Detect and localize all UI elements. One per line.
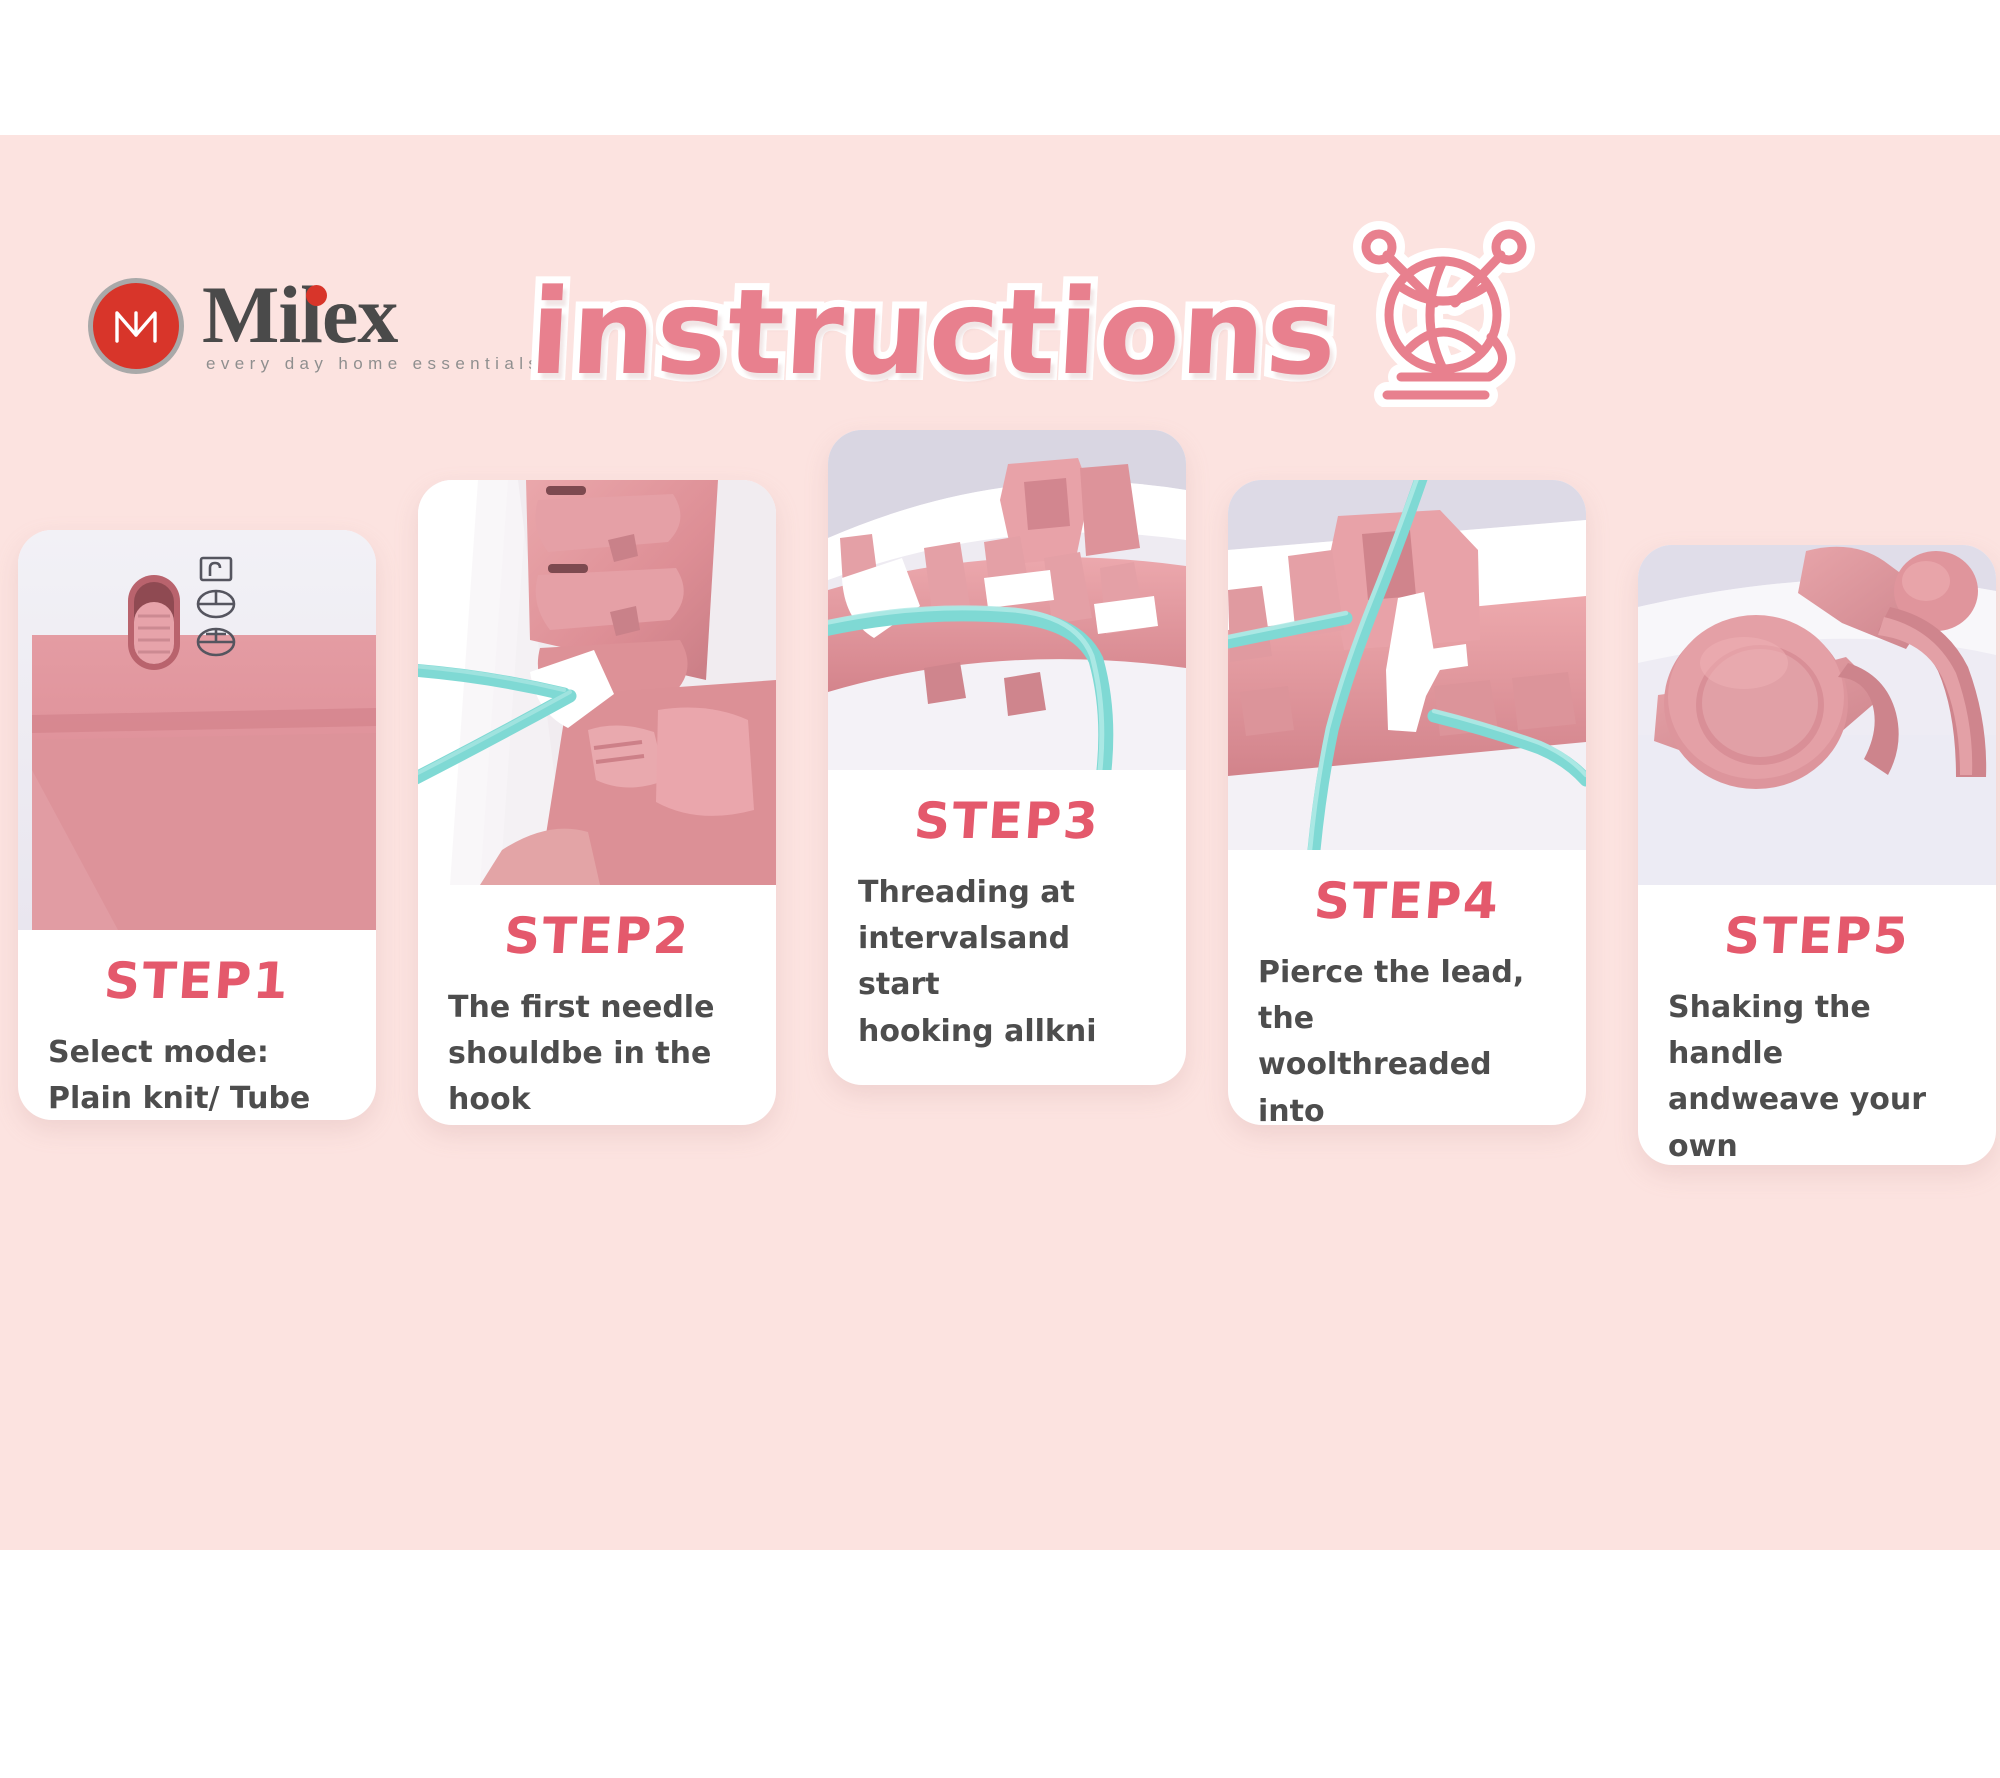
step-card-1[interactable]: STEP1 Select mode: Plain knit/ Tube knit — [18, 530, 376, 1120]
step-desc-line: Select mode: — [48, 1030, 346, 1076]
yarn-ball-with-knitting-needles-icon — [1339, 217, 1549, 412]
brand-wordmark: Milex every day home essentials — [202, 277, 542, 374]
step-desc-line: Threading at — [858, 870, 1156, 916]
step-card-3[interactable]: STEP3 Threading at intervalsand start ho… — [828, 430, 1186, 1085]
step-description: Select mode: Plain knit/ Tube knit — [48, 1030, 346, 1120]
step-desc-line: Pierce the lead, the — [1258, 950, 1556, 1042]
step-card-5[interactable]: STEP5 Shaking the handle andweave your o… — [1638, 545, 1996, 1165]
step-card-3-body: STEP3 Threading at intervalsand start ho… — [828, 792, 1186, 1081]
step-description: Threading at intervalsand start hooking … — [858, 870, 1156, 1055]
step-desc-line: shouldbe in the hook — [448, 1031, 746, 1123]
step-desc-line: hooking allkni — [858, 1009, 1156, 1055]
step-label: STEP1 — [46, 952, 348, 1010]
instruction-poster: Milex every day home essentials instruct… — [0, 0, 2000, 1778]
title-lockup: instructions — [530, 251, 1549, 412]
step-desc-line: andweave your own — [1668, 1077, 1966, 1165]
step-desc-line: woolthreaded into — [1258, 1042, 1556, 1125]
crank-handle-knob-photo — [1638, 545, 1996, 885]
brand-name: Milex — [202, 277, 542, 352]
step-desc-line: intervalsand start — [858, 916, 1156, 1008]
step-card-5-body: STEP5 Shaking the handle andweave your o… — [1638, 907, 1996, 1165]
step-label: STEP4 — [1256, 872, 1558, 930]
mode-selector-slider-photo — [18, 530, 376, 930]
needle-hook-threading-photo — [418, 480, 776, 885]
brand-lockup: Milex every day home essentials — [88, 277, 542, 374]
step-desc-line: Shaking the handle — [1668, 985, 1966, 1077]
step-desc-line: The first needle — [448, 985, 746, 1031]
step-description: The first needle shouldbe in the hook an… — [448, 985, 746, 1125]
step-label: STEP5 — [1666, 907, 1968, 965]
poster-header: Milex every day home essentials instruct… — [0, 255, 2000, 435]
step-description: Pierce the lead, the woolthreaded into t… — [1258, 950, 1556, 1125]
page-title: instructions — [527, 273, 1341, 391]
brand-i-dot-icon — [306, 285, 327, 306]
step-label: STEP2 — [446, 907, 748, 965]
step-description: Shaking the handle andweave your own sca… — [1668, 985, 1966, 1165]
step-card-1-body: STEP1 Select mode: Plain knit/ Tube knit — [18, 952, 376, 1120]
step-card-4-body: STEP4 Pierce the lead, the woolthreaded … — [1228, 872, 1586, 1125]
milex-m-monogram-icon — [88, 278, 184, 374]
step-desc-line: Plain knit/ Tube knit — [48, 1076, 346, 1120]
yarn-threaded-through-hooks-photo — [828, 430, 1186, 770]
wool-pierced-into-threadmouth-photo — [1228, 480, 1586, 850]
step-card-2-body: STEP2 The first needle shouldbe in the h… — [418, 907, 776, 1125]
step-card-2[interactable]: STEP2 The first needle shouldbe in the h… — [418, 480, 776, 1125]
step-label: STEP3 — [856, 792, 1158, 850]
step-desc-line: and thesecond — [448, 1124, 746, 1125]
step-card-4[interactable]: STEP4 Pierce the lead, the woolthreaded … — [1228, 480, 1586, 1125]
